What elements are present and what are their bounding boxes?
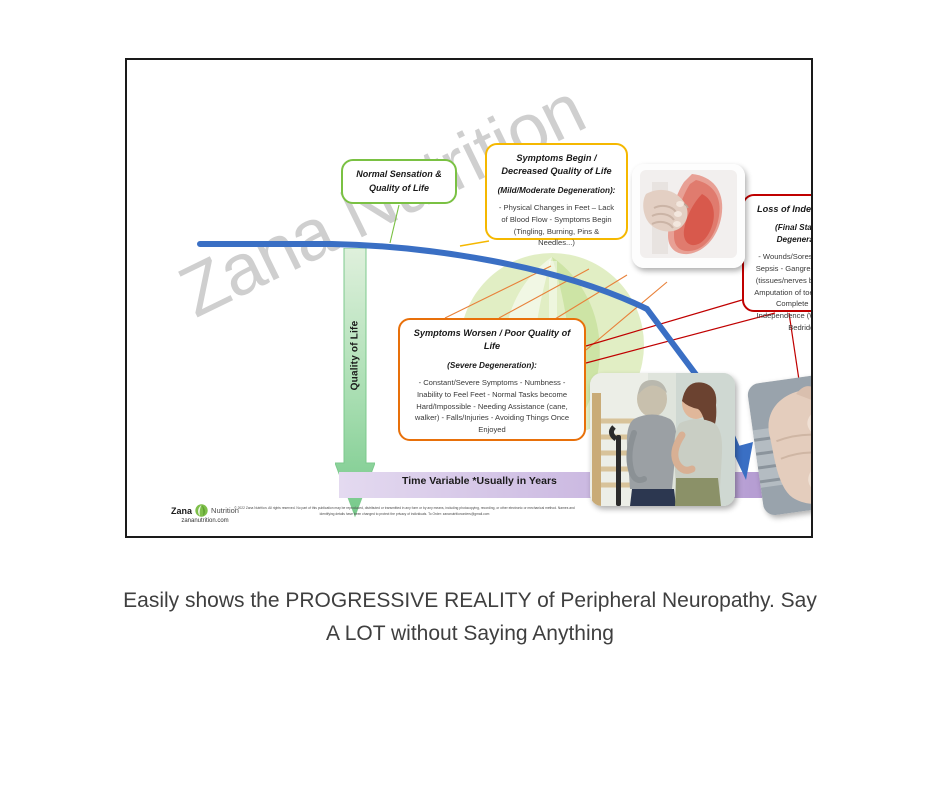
- callout-normal-sensation[interactable]: Normal Sensation & Quality of Life: [341, 159, 457, 204]
- copyright-notice: © 2022 Zana Nutrition. All rights reserv…: [232, 505, 577, 517]
- callout-title: Normal Sensation & Quality of Life: [351, 168, 447, 194]
- leaf-logo-icon: [193, 504, 210, 517]
- brand-url[interactable]: zananutrition.com: [165, 518, 245, 524]
- infographic-slide: Zana Nutrition Quality of Life: [125, 58, 813, 538]
- hands-holding-inflamed-foot-photo: [632, 164, 745, 268]
- callout-symptoms-worsen[interactable]: Symptoms Worsen / Poor Quality of Life (…: [398, 318, 586, 441]
- callout-subtitle: (Severe Degeneration):: [408, 360, 576, 371]
- callout-body: - Constant/Severe Symptoms - Numbness - …: [408, 377, 576, 436]
- callout-body: - Wounds/Sores - Infection - Sepsis - Ga…: [752, 251, 811, 333]
- y-axis-label: Quality of Life: [350, 314, 361, 398]
- infographic-canvas: Zana Nutrition Quality of Life: [127, 60, 811, 536]
- callout-subtitle: (Mild/Moderate Degeneration):: [495, 185, 618, 196]
- callout-title: Loss of Independence: [752, 203, 811, 216]
- slide-footer: Zana Nutrition zananutrition.com © 2022 …: [127, 500, 811, 536]
- page-caption: Easily shows the PROGRESSIVE REALITY of …: [120, 585, 820, 650]
- logo-word-zana: Zana: [171, 506, 192, 516]
- callout-title: Symptoms Begin / Decreased Quality of Li…: [495, 152, 618, 179]
- callout-body: - Physical Changes in Feet – Lack of Blo…: [495, 202, 618, 249]
- callout-title: Symptoms Worsen / Poor Quality of Life: [408, 327, 576, 354]
- x-axis-label: Time Variable *Usually in Years: [402, 475, 557, 487]
- callout-subtitle: (Final Stages of Degeneration):: [752, 222, 811, 245]
- callout-loss-of-independence[interactable]: Loss of Independence (Final Stages of De…: [742, 194, 811, 312]
- caregiver-assisting-elderly-man-with-cane-photo: [590, 373, 735, 506]
- callout-symptoms-begin[interactable]: Symptoms Begin / Decreased Quality of Li…: [485, 143, 628, 240]
